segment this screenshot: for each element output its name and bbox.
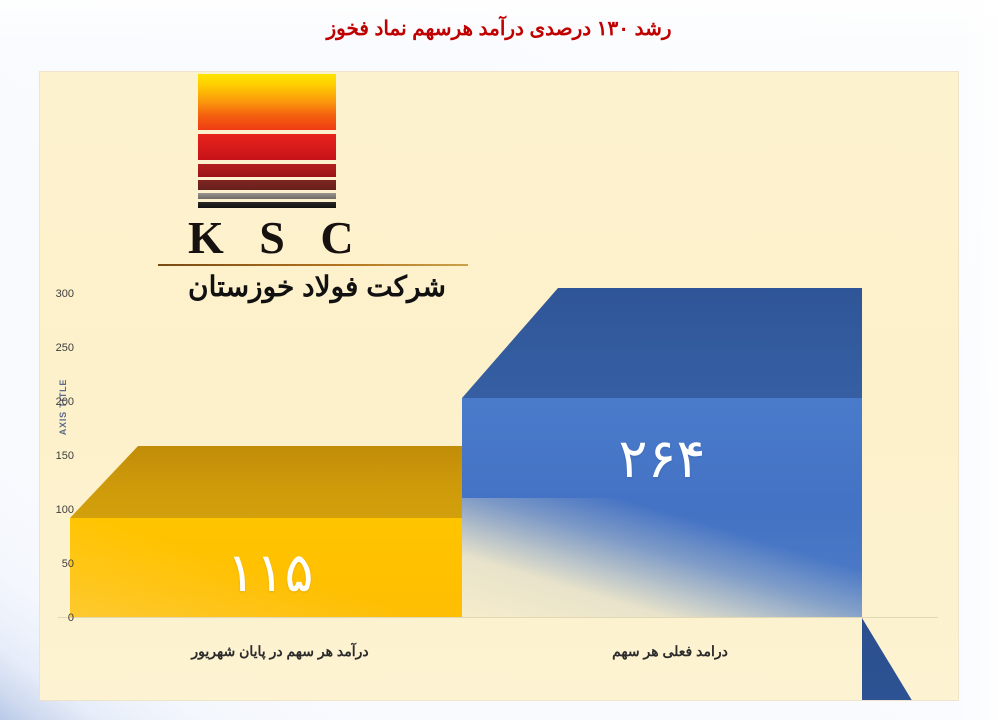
logo-gradient-block-icon (198, 74, 336, 130)
y-tick-label: 150 (40, 450, 74, 462)
logo-stripe-maroon-icon (198, 180, 336, 190)
bar-top-face (70, 446, 470, 518)
logo-stripe-darkred-icon (198, 164, 336, 177)
chart-plot-area: K S C شرکت فولاد خوزستان AXIS TITLE 300 … (40, 72, 958, 700)
logo-stripe-gray-icon (198, 193, 336, 199)
chart-title: رشد ۱۳۰ درصدی درآمد هرسهم نماد فخوز (0, 16, 998, 41)
logo-stripe-block (198, 74, 336, 208)
bar-top-face (462, 288, 862, 398)
x-axis-baseline (58, 617, 938, 618)
category-label-1: درامد فعلی هر سهم (470, 643, 870, 660)
y-tick-label: 300 (40, 288, 74, 300)
ksc-logo: K S C شرکت فولاد خوزستان (152, 74, 472, 303)
slide-canvas: رشد ۱۳۰ درصدی درآمد هرسهم نماد فخوز K S … (0, 0, 998, 720)
category-label-0: درآمد هر سهم در پایان شهریور (80, 643, 480, 660)
logo-company-name: شرکت فولاد خوزستان (152, 270, 482, 303)
bar-side-face (862, 618, 928, 700)
logo-letters: K S C (188, 214, 472, 262)
logo-stripe-black-icon (198, 202, 336, 208)
y-tick-label: 0 (40, 612, 74, 624)
bar-value-label: ۲۶۴ (462, 427, 862, 490)
y-tick-label: 100 (40, 504, 74, 516)
y-tick-label: 250 (40, 342, 74, 354)
bar-value-label: ۱۱۵ (70, 541, 470, 604)
y-axis-ticks: 300 250 200 150 100 50 0 (40, 72, 80, 700)
logo-divider (158, 264, 468, 266)
y-tick-label: 200 (40, 396, 74, 408)
y-tick-label: 50 (40, 558, 74, 570)
logo-stripe-red-icon (198, 134, 336, 160)
